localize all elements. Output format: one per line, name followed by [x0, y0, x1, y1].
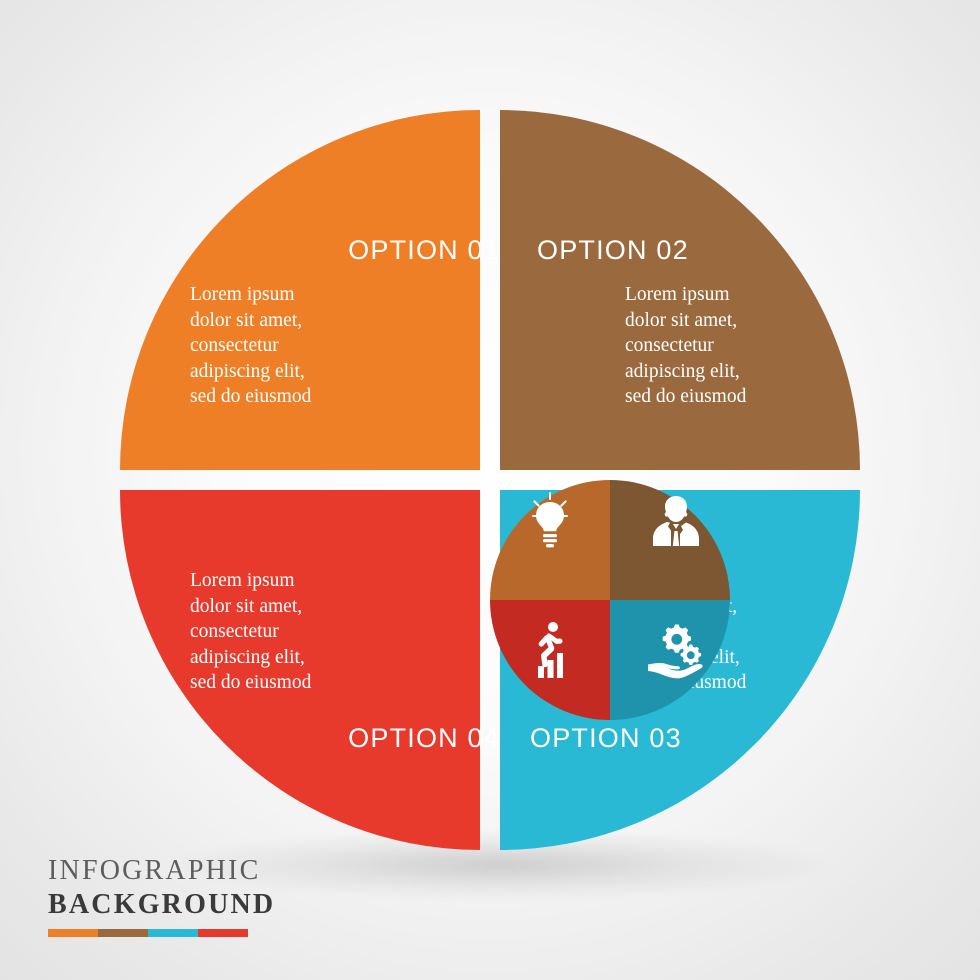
footer-color-bars [48, 929, 248, 937]
footer: INFOGRAPHIC BACKGROUND [48, 855, 348, 937]
color-bar-orange [48, 929, 98, 937]
segment-title-option-02: OPTION 02 [537, 235, 797, 266]
segment-title-option-03: OPTION 03 [530, 723, 790, 754]
businessman-icon [644, 488, 708, 552]
footer-line-2: BACKGROUND [48, 889, 348, 921]
color-bar-brown [98, 929, 148, 937]
circular-diagram: OPTION 01 Lorem ipsum dolor sit amet, co… [120, 110, 860, 850]
segment-body-option-04: Lorem ipsum dolor sit amet, consectetur … [190, 568, 450, 696]
footer-line-1: INFOGRAPHIC [48, 855, 348, 887]
segment-title-option-04: OPTION 04 [270, 723, 500, 754]
infographic-canvas: OPTION 01 Lorem ipsum dolor sit amet, co… [0, 0, 980, 980]
segment-body-option-02: Lorem ipsum dolor sit amet, consectetur … [625, 282, 885, 410]
lightbulb-icon [518, 488, 582, 552]
color-bar-red [198, 929, 248, 937]
hand-gears-icon [644, 618, 708, 682]
segment-body-option-01: Lorem ipsum dolor sit amet, consectetur … [190, 282, 450, 410]
segment-title-option-01: OPTION 01 [270, 235, 500, 266]
runner-growth-chart-icon [518, 618, 582, 682]
color-bar-cyan [148, 929, 198, 937]
